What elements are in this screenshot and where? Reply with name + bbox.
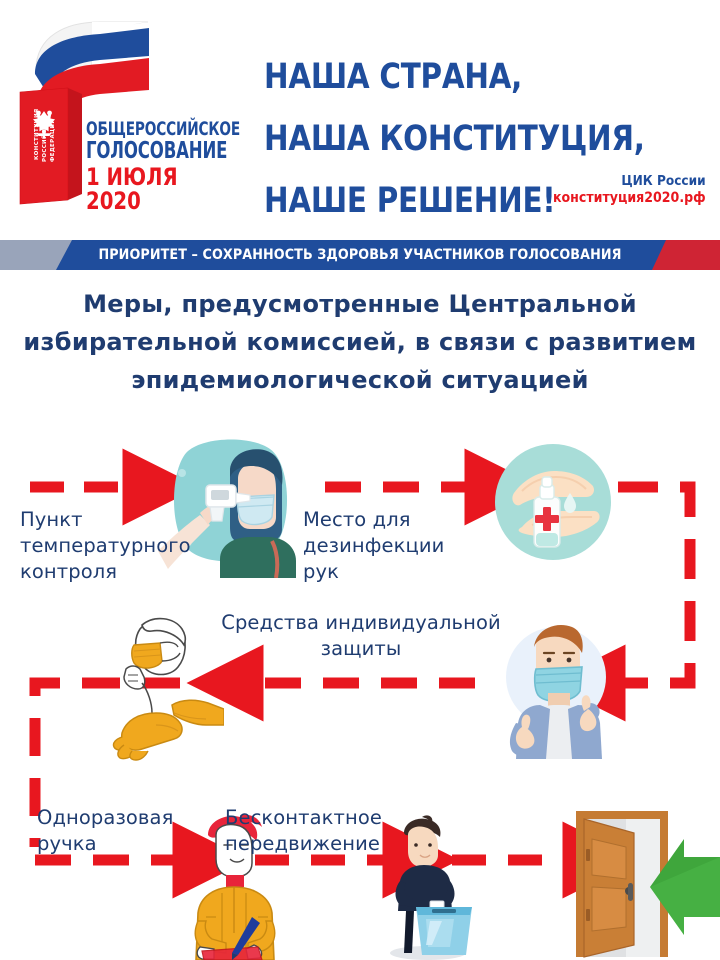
heading-line-2: избирательной комиссией, в связи с разви… [0,323,720,361]
label-movement-line-2: передвижение [225,831,410,857]
priority-banner: ПРИОРИТЕТ – СОХРАННОСТЬ ЗДОРОВЬЯ УЧАСТНИ… [0,240,720,270]
book-label: КОНСТИТУЦИЯ [34,108,40,160]
attribution-block: ЦИК России конституция2020.рф [536,173,706,206]
label-temperature-line-3: контроля [20,559,180,585]
svg-text:ФЕДЕРАЦИИ: ФЕДЕРАЦИИ [50,119,56,162]
safety-flow-diagram: Пункт температурного контроля Место для … [0,415,720,960]
poster-header: КОНСТИТУЦИЯ РОССИЙСКОЙ ФЕДЕРАЦИИ ОБЩЕРОС… [0,0,720,236]
label-disinfection-line-2: дезинфекции рук [303,533,483,585]
slogan-line-2: НАША КОНСТИТУЦИЯ, [264,108,566,170]
logo-line-2: ГОЛОСОВАНИЕ [86,140,222,163]
label-pen-line-1: Одноразовая [37,805,197,831]
connector-disinfection-to-ppe [618,487,690,683]
open-door-icon [566,805,720,960]
hand-sanitizer-icon [492,441,614,563]
svg-text:РОССИЙСКОЙ: РОССИЙСКОЙ [40,115,48,162]
vote-logo: КОНСТИТУЦИЯ РОССИЙСКОЙ ФЕДЕРАЦИИ ОБЩЕРОС… [8,12,258,212]
slogan-line-3: НАШЕ РЕШЕНИЕ! [264,170,566,232]
label-ppe-line-1: Средства индивидуальной [196,610,526,636]
label-ppe-line-2: защиты [196,636,526,662]
label-ppe: Средства индивидуальной защиты [196,610,526,662]
attribution-organization: ЦИК России [553,173,706,189]
label-hand-disinfection: Место для дезинфекции рук [303,507,483,585]
label-disposable-pen: Одноразовая ручка [37,805,197,857]
banner-text: ПРИОРИТЕТ – СОХРАННОСТЬ ЗДОРОВЬЯ УЧАСТНИ… [43,240,677,270]
page-title: Меры, предусмотренные Центральной избира… [0,285,720,399]
label-temperature-line-2: температурного [20,533,180,559]
label-temperature-line-1: Пункт [20,507,180,533]
heading-line-3: эпидемиологической ситуацией [0,361,720,399]
label-contactless-movement: Бесконтактное передвижение [225,805,410,857]
label-disinfection-line-1: Место для [303,507,483,533]
logo-text-block: ОБЩЕРОССИЙСКОЕ ГОЛОСОВАНИЕ 1 ИЮЛЯ 2020 [86,120,256,213]
heading-line-1: Меры, предусмотренные Центральной [0,285,720,323]
poster-root: КОНСТИТУЦИЯ РОССИЙСКОЙ ФЕДЕРАЦИИ ОБЩЕРОС… [0,0,720,960]
logo-line-3: 1 ИЮЛЯ 2020 [86,165,225,213]
label-movement-line-1: Бесконтактное [225,805,410,831]
label-pen-line-2: ручка [37,831,197,857]
slogan-line-1: НАША СТРАНА, [264,46,566,108]
label-temperature-check: Пункт температурного контроля [20,507,180,585]
attribution-website[interactable]: конституция2020.рф [553,190,706,206]
logo-line-1: ОБЩЕРОССИЙСКОЕ [86,120,222,139]
